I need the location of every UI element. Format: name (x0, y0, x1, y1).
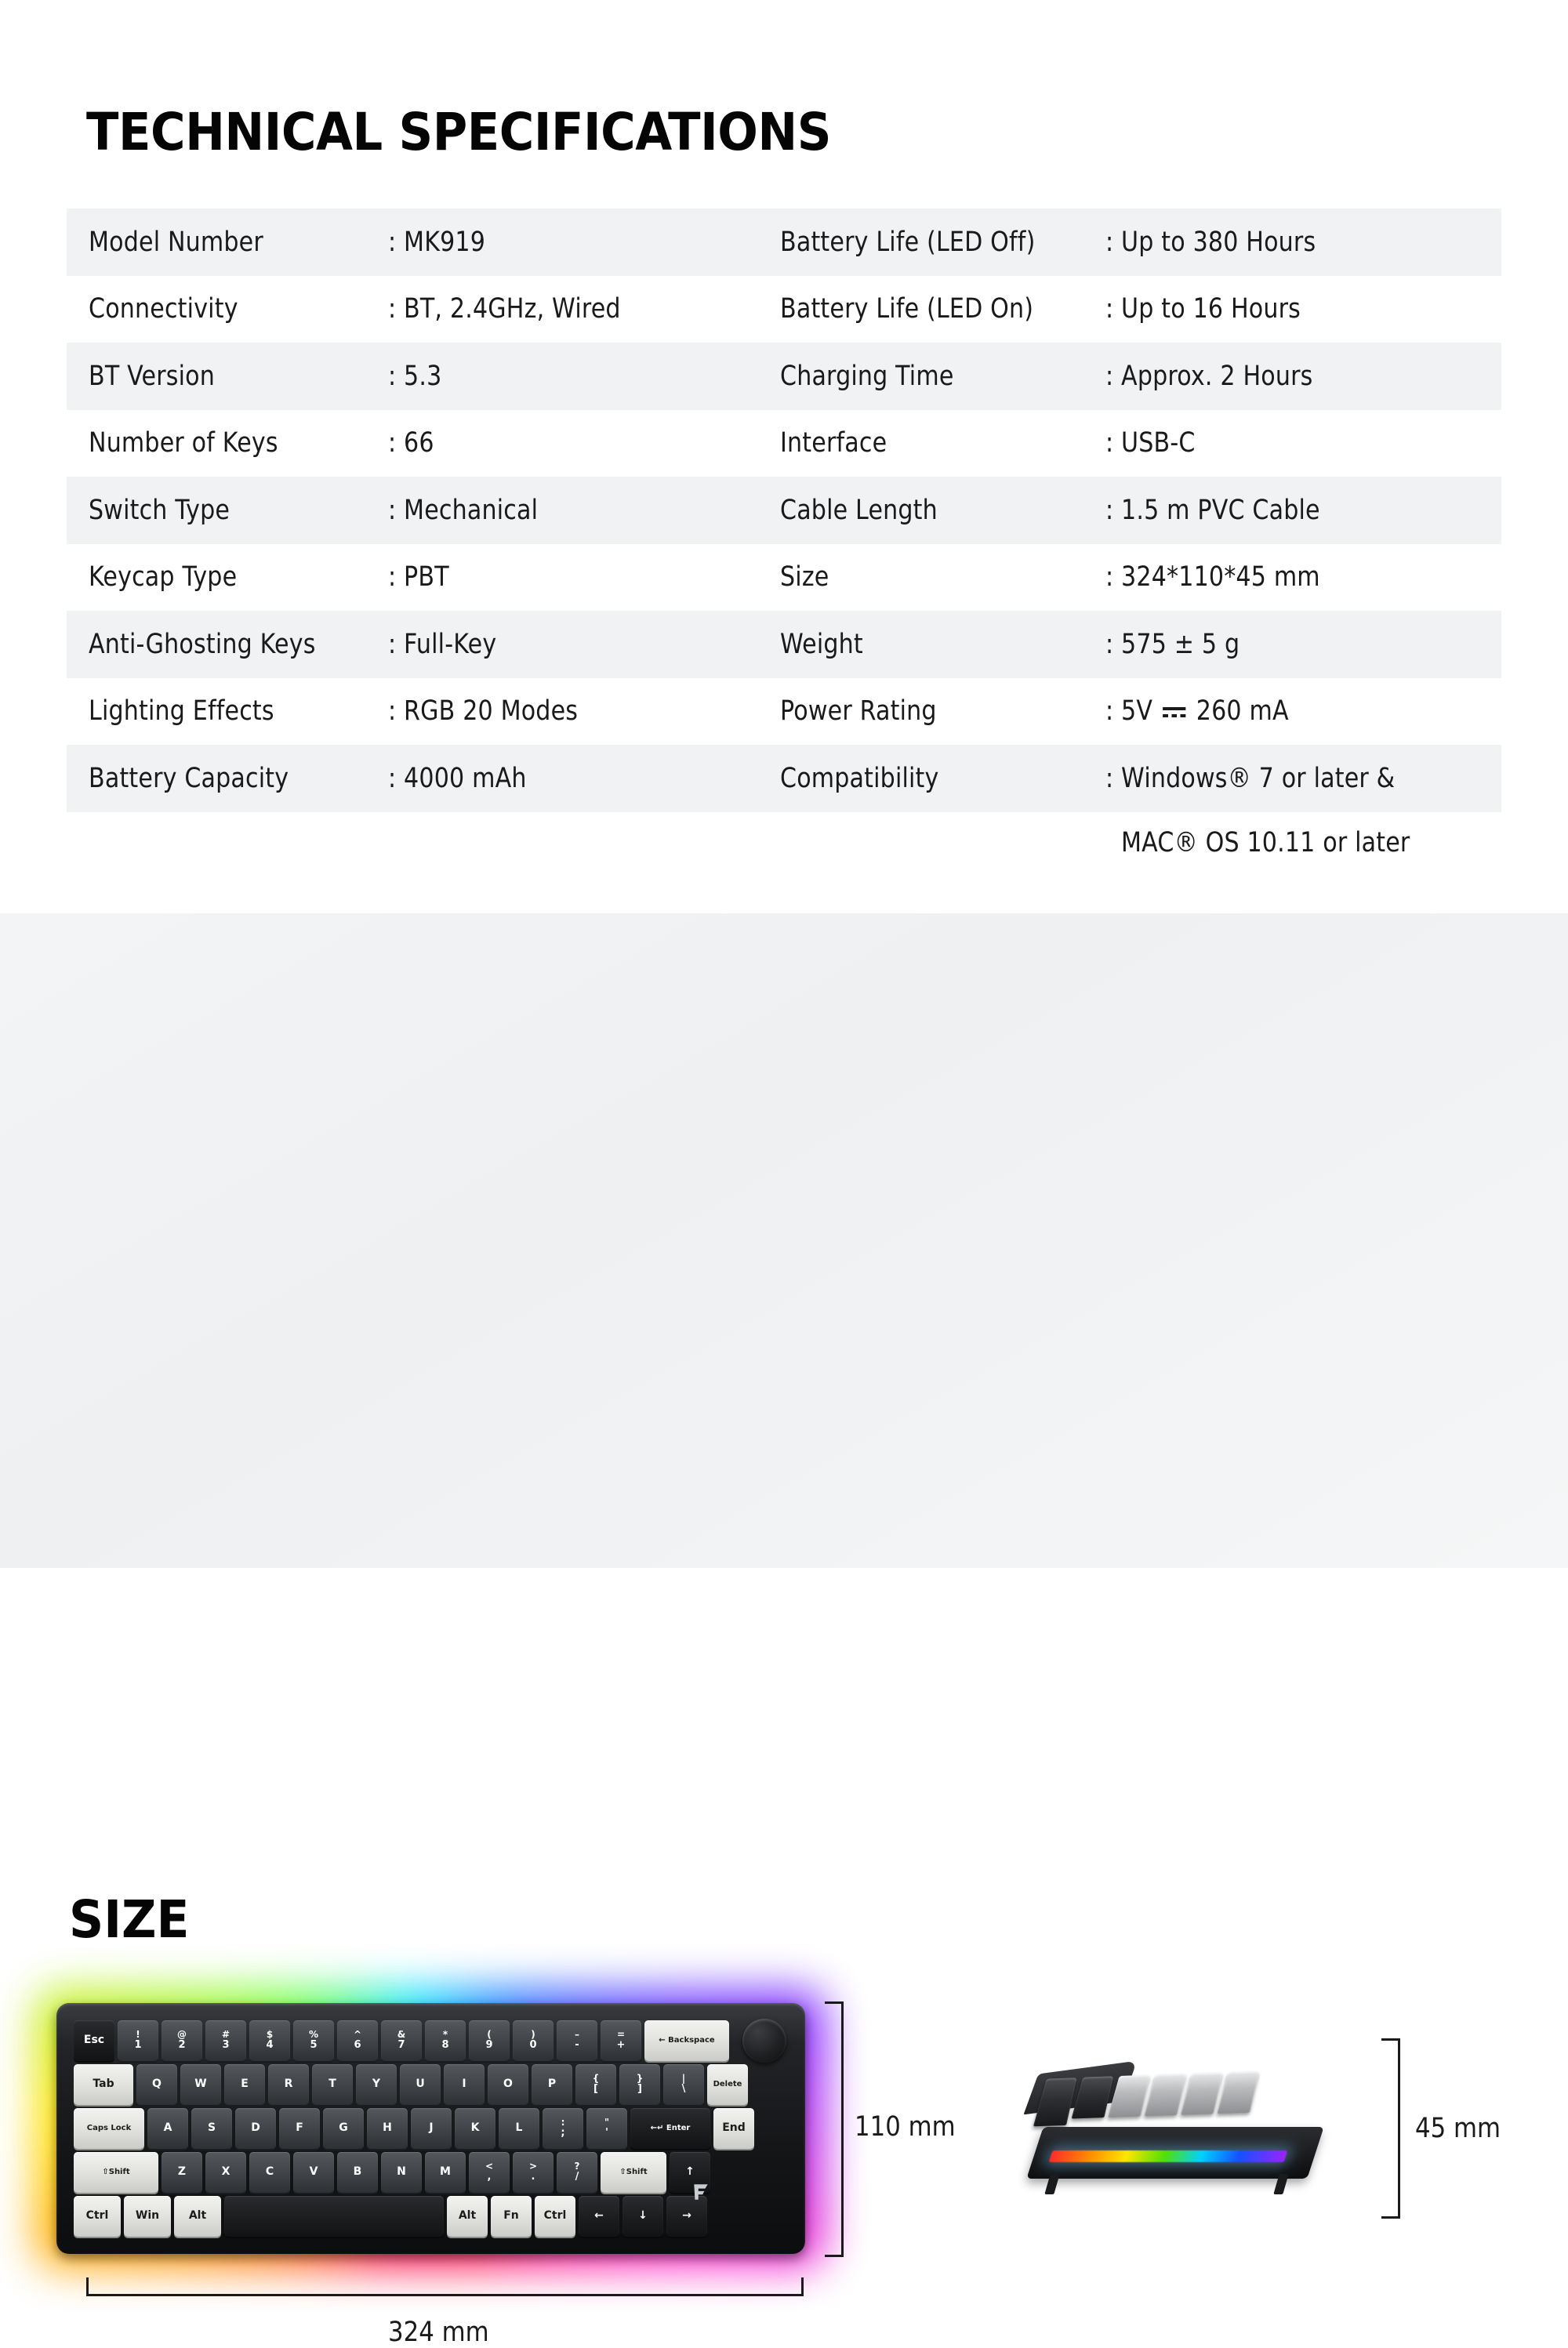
spec-value-right-text: : USB-C (1105, 427, 1196, 459)
key-a[interactable]: A (147, 2108, 188, 2149)
spec-label-right: Size (780, 544, 1105, 611)
key-legend: 3 (222, 2040, 229, 2052)
key-blank[interactable]: ?/ (557, 2152, 597, 2193)
key-ctrl[interactable]: Ctrl (535, 2196, 575, 2237)
spec-label-left-text: Switch Type (89, 495, 230, 526)
key-1[interactable]: !1 (118, 2020, 158, 2061)
key-legend: ← (594, 2210, 604, 2223)
side-view-rgb-strip (1049, 2150, 1288, 2162)
key-legend-top: | (682, 2074, 685, 2084)
spec-value-left-text: : RGB 20 Modes (388, 695, 578, 727)
key-legend: R (285, 2078, 293, 2091)
spec-value-right-text: : Up to 380 Hours (1105, 227, 1316, 258)
key-legend: 8 (441, 2040, 448, 2052)
key-legend: ⇧Shift (619, 2168, 647, 2176)
keyboard-side-view (1019, 2027, 1333, 2207)
key-t[interactable]: T (312, 2064, 353, 2105)
key-legend-top: # (222, 2030, 230, 2040)
spec-label-left: Anti-Ghosting Keys (67, 611, 388, 678)
key-legend-top: – (575, 2030, 579, 2040)
key-legend: ← Backspace (659, 2036, 714, 2045)
spec-label-left: BT Version (67, 343, 388, 410)
key-legend-top: & (397, 2030, 405, 2040)
spec-value-right-text: : 1.5 m PVC Cable (1105, 495, 1320, 526)
dc-current-icon (1163, 704, 1185, 720)
key-legend: Ctrl (544, 2210, 567, 2223)
key-legend: Z (178, 2166, 186, 2179)
spec-value-right: : 575 ± 5 g (1105, 611, 1501, 678)
key-legend-top: > (529, 2161, 537, 2172)
spec-label-left-text: Number of Keys (89, 427, 278, 459)
key-legend: U (416, 2078, 424, 2091)
spec-value-left-text: : PBT (388, 561, 449, 593)
spec-label-right-text: Power Rating (780, 695, 937, 727)
key-legend: ] (637, 2084, 642, 2096)
spec-label-right-text: Interface (780, 427, 887, 459)
spec-row: Lighting Effects: RGB 20 ModesPower Rati… (67, 678, 1501, 746)
spec-value-left-text: : Mechanical (388, 495, 538, 526)
spec-label-right: Compatibility (780, 745, 1105, 812)
depth-dimension-label: 110 mm (855, 2111, 956, 2143)
key-blank[interactable]: ↓ (622, 2196, 663, 2237)
key-win[interactable]: Win (124, 2196, 171, 2237)
key-legend: [ (593, 2084, 598, 2096)
spec-label-left: Lighting Effects (67, 678, 388, 746)
spec-label-left: Model Number (67, 209, 388, 276)
spec-value-right: : 1.5 m PVC Cable (1105, 477, 1501, 544)
key-legend: M (440, 2166, 451, 2179)
key-d[interactable]: D (235, 2108, 276, 2149)
technical-specifications-section: TECHNICAL SPECIFICATIONS Model Number: M… (0, 0, 1568, 913)
key-legend: K (471, 2122, 480, 2135)
key-legend: X (222, 2166, 230, 2179)
key-delete[interactable]: Delete (707, 2064, 748, 2105)
key-legend-top: ^ (354, 2030, 361, 2040)
key-blank[interactable]: }] (619, 2064, 660, 2105)
key-6[interactable]: ^6 (337, 2020, 378, 2061)
key-i[interactable]: I (444, 2064, 485, 2105)
key-legend: E (241, 2078, 249, 2091)
key-9[interactable]: (9 (469, 2020, 510, 2061)
key-l[interactable]: L (499, 2108, 539, 2149)
key-legend: + (617, 2040, 626, 2052)
key-j[interactable]: J (411, 2108, 452, 2149)
spec-value-left-text: : 5.3 (388, 361, 441, 392)
key-legend: Win (136, 2210, 159, 2223)
key-legend: Esc (84, 2034, 104, 2047)
key-legend-top: } (637, 2074, 644, 2084)
key-8[interactable]: *8 (425, 2020, 466, 2061)
key-r[interactable]: R (268, 2064, 309, 2105)
spec-value-right: : 5V 260 mA (1105, 678, 1501, 746)
spec-value-right: : Up to 16 Hours (1105, 276, 1501, 343)
key-legend: B (354, 2166, 362, 2179)
key-g[interactable]: G (323, 2108, 364, 2149)
spec-label-right-text: Compatibility (780, 763, 939, 794)
key-blank[interactable]: |\ (663, 2064, 704, 2105)
key-legend: Q (152, 2078, 162, 2091)
keyboard-chassis: Esc!1@2#3$4%5^6&7*8(9)0–-=+← BackspaceTa… (56, 2003, 805, 2254)
spec-value-right: : Approx. 2 Hours (1105, 343, 1501, 410)
key-legend: ; (561, 2128, 564, 2139)
key-legend: Ctrl (86, 2210, 109, 2223)
key-legend: F (296, 2122, 303, 2135)
keyboard-row: CtrlWinAltAltFnCtrl←↓→ (74, 2196, 789, 2237)
key-legend: ←↵ Enter (651, 2124, 691, 2132)
key-legend-top: : (561, 2118, 565, 2128)
key-backspace[interactable]: ← Backspace (644, 2020, 729, 2061)
key-z[interactable]: Z (162, 2152, 202, 2193)
side-view-key (1108, 2075, 1150, 2118)
key-legend: , (488, 2172, 492, 2183)
key-n[interactable]: N (381, 2152, 422, 2193)
key-legend: Fn (503, 2210, 519, 2223)
keycap-grid: Esc!1@2#3$4%5^6&7*8(9)0–-=+← BackspaceTa… (74, 2020, 789, 2241)
height-dimension-label: 45 mm (1415, 2113, 1501, 2144)
key-legend: Alt (459, 2210, 476, 2223)
spec-label-right: Weight (780, 611, 1105, 678)
key-2[interactable]: @2 (162, 2020, 202, 2061)
key-legend: 4 (266, 2040, 273, 2052)
key-legend: \ (682, 2084, 686, 2096)
key-legend: / (575, 2172, 579, 2183)
key-caps-lock[interactable]: Caps Lock (74, 2108, 144, 2149)
spec-label-right-text: Charging Time (780, 361, 954, 392)
key-legend-top: % (309, 2030, 318, 2040)
spec-label-left: Battery Capacity (67, 745, 388, 812)
spec-label-left-text: Model Number (89, 227, 263, 258)
key-s[interactable]: S (191, 2108, 232, 2149)
key-legend: D (251, 2122, 260, 2135)
key-legend: Y (372, 2078, 380, 2091)
key-legend: 9 (485, 2040, 492, 2052)
spec-row: Connectivity: BT, 2.4GHz, WiredBattery L… (67, 276, 1501, 343)
key-blank[interactable]: =+ (601, 2020, 641, 2061)
key-end[interactable]: End (713, 2108, 754, 2149)
spec-value-left: : PBT (388, 544, 780, 611)
spec-label-right-text: Cable Length (780, 495, 938, 526)
spec-value-right-text: : 324*110*45 mm (1105, 561, 1320, 593)
depth-dimension-bracket (825, 2001, 844, 2257)
key-m[interactable]: M (425, 2152, 466, 2193)
spec-value-left: : 66 (388, 410, 780, 477)
side-view-key (1181, 2072, 1223, 2114)
key-v[interactable]: V (293, 2152, 334, 2193)
spec-label-left-text: Connectivity (89, 293, 238, 325)
spec-value-left: : Full-Key (388, 611, 780, 678)
keyboard-row: TabQWERTYUIOP{[}]|\Delete (74, 2064, 789, 2105)
key-legend: → (682, 2210, 691, 2223)
key-legend: ⇧Shift (102, 2168, 129, 2176)
spec-value-left-text: : Full-Key (388, 629, 496, 660)
key-legend: 1 (134, 2040, 141, 2052)
spec-label-left-text: Battery Capacity (89, 763, 289, 794)
key-legend: Alt (189, 2210, 206, 2223)
key-blank[interactable]: :; (543, 2108, 583, 2149)
key-legend-top: $ (267, 2030, 273, 2040)
key-blank[interactable]: "' (586, 2108, 627, 2149)
key-legend: ↑ (685, 2166, 695, 2179)
spec-label-right: Battery Life (LED Off) (780, 209, 1105, 276)
spec-row: Anti-Ghosting Keys: Full-KeyWeight: 575 … (67, 611, 1501, 678)
height-dimension-bracket (1381, 2038, 1400, 2219)
spec-row: Number of Keys: 66Interface: USB-C (67, 410, 1501, 477)
key-enter[interactable]: ←↵ Enter (630, 2108, 710, 2149)
key-h[interactable]: H (367, 2108, 408, 2149)
keyboard-row: Esc!1@2#3$4%5^6&7*8(9)0–-=+← Backspace (74, 2020, 789, 2061)
volume-knob-icon (742, 2019, 786, 2063)
key-y[interactable]: Y (356, 2064, 397, 2105)
key-legend: 5 (310, 2040, 317, 2052)
key-c[interactable]: C (249, 2152, 290, 2193)
key-alt[interactable]: Alt (447, 2196, 488, 2237)
spec-row: BT Version: 5.3Charging Time: Approx. 2 … (67, 343, 1501, 410)
specifications-table: Model Number: MK919Battery Life (LED Off… (67, 209, 1501, 812)
key-blank[interactable]: ← (579, 2196, 619, 2237)
spec-value-right-text: : Windows® 7 or later & (1105, 763, 1395, 794)
keyboard-row: Caps LockASDFGHJKL:;"'←↵ EnterEnd (74, 2108, 789, 2149)
key-legend: - (575, 2040, 579, 2052)
key-legend: End (722, 2122, 746, 2135)
key-5[interactable]: %5 (293, 2020, 334, 2061)
key-legend: 7 (397, 2040, 405, 2052)
width-dimension-label: 324 mm (388, 2317, 489, 2348)
key-u[interactable]: U (400, 2064, 441, 2105)
key-legend: 0 (529, 2040, 536, 2052)
key-legend: V (310, 2166, 318, 2179)
spec-value-left-text: : 4000 mAh (388, 763, 527, 794)
spec-label-left-text: Anti-Ghosting Keys (89, 629, 316, 660)
keyboard-row: ⇧ShiftZXCVBNM<,>.?/⇧Shift↑ (74, 2152, 789, 2193)
key-legend: L (516, 2122, 523, 2135)
key-legend-top: < (485, 2161, 493, 2172)
key-legend: Delete (713, 2080, 742, 2089)
spec-value-right-text: : 575 ± 5 g (1105, 629, 1240, 660)
key-legend: ↓ (638, 2210, 648, 2223)
key-legend-top: " (604, 2118, 609, 2128)
spec-row: Keycap Type: PBTSize: 324*110*45 mm (67, 544, 1501, 611)
spec-label-left-text: Lighting Effects (89, 695, 274, 727)
compatibility-mac-text: MAC® OS 10.11 or later (1121, 827, 1410, 858)
spec-value-right: : Windows® 7 or later & (1105, 745, 1501, 812)
compatibility-second-line: MAC® OS 10.11 or later (1121, 827, 1457, 858)
spec-label-left: Number of Keys (67, 410, 388, 477)
page-title: TECHNICAL SPECIFICATIONS (86, 102, 831, 162)
key-0[interactable]: )0 (513, 2020, 554, 2061)
key-fn[interactable]: Fn (491, 2196, 532, 2237)
key-shift[interactable]: ⇧Shift (74, 2152, 158, 2193)
spec-value-left: : 5.3 (388, 343, 780, 410)
spec-value-right-text: : 5V 260 mA (1105, 695, 1289, 727)
key-blank[interactable]: <, (469, 2152, 510, 2193)
key-k[interactable]: K (455, 2108, 495, 2149)
spec-label-right-text: Battery Life (LED On) (780, 293, 1033, 325)
key-blank[interactable] (224, 2196, 444, 2237)
key-legend: Caps Lock (87, 2124, 132, 2132)
spec-row: Switch Type: MechanicalCable Length: 1.5… (67, 477, 1501, 544)
side-view-key (1144, 2074, 1186, 2116)
key-f[interactable]: F (279, 2108, 320, 2149)
spec-value-right-text: : Up to 16 Hours (1105, 293, 1301, 325)
key-legend: S (208, 2122, 216, 2135)
spec-label-left: Keycap Type (67, 544, 388, 611)
spec-label-right: Battery Life (LED On) (780, 276, 1105, 343)
key-legend: I (462, 2078, 466, 2091)
size-title: SIZE (69, 1889, 189, 1950)
spec-value-right: : USB-C (1105, 410, 1501, 477)
key-legend: C (266, 2166, 274, 2179)
size-section: SIZE Esc!1@2#3$4%5^6&7*8(9)0–-=+← Backsp… (0, 913, 1568, 1568)
key-legend: P (548, 2078, 556, 2091)
key-legend: W (194, 2078, 206, 2091)
key-legend-top: ( (487, 2030, 491, 2040)
spec-value-right-text: : Approx. 2 Hours (1105, 361, 1313, 392)
key-7[interactable]: &7 (381, 2020, 422, 2061)
key-shift[interactable]: ⇧Shift (601, 2152, 666, 2193)
key-legend-top: ) (531, 2030, 535, 2040)
key-w[interactable]: W (180, 2064, 221, 2105)
key-legend: G (339, 2122, 348, 2135)
spec-value-left: : RGB 20 Modes (388, 678, 780, 746)
key-legend-top: ! (136, 2030, 140, 2040)
key-b[interactable]: B (337, 2152, 378, 2193)
key-legend: A (164, 2122, 172, 2135)
key-ctrl[interactable]: Ctrl (74, 2196, 121, 2237)
spec-value-left: : MK919 (388, 209, 780, 276)
spec-value-right: : Up to 380 Hours (1105, 209, 1501, 276)
key-legend-top: @ (177, 2030, 187, 2040)
spec-value-right: : 324*110*45 mm (1105, 544, 1501, 611)
spec-label-left: Connectivity (67, 276, 388, 343)
spec-value-left-text: : MK919 (388, 227, 485, 258)
key-legend-top: * (443, 2030, 448, 2040)
key-blank[interactable]: –- (557, 2020, 597, 2061)
key-legend: . (532, 2172, 535, 2183)
spec-label-left-text: BT Version (89, 361, 215, 392)
spec-label-left: Switch Type (67, 477, 388, 544)
key-legend-top: = (617, 2030, 625, 2040)
fantech-logo-icon (691, 2182, 711, 2202)
spec-value-left-text: : BT, 2.4GHz, Wired (388, 293, 621, 325)
side-view-key (1072, 2076, 1114, 2118)
key-tab[interactable]: Tab (74, 2064, 133, 2105)
key-legend: 6 (354, 2040, 361, 2052)
spec-label-left-text: Keycap Type (89, 561, 237, 593)
key-e[interactable]: E (224, 2064, 265, 2105)
spec-label-right: Cable Length (780, 477, 1105, 544)
spec-value-left: : 4000 mAh (388, 745, 780, 812)
side-view-keycaps (1034, 2070, 1260, 2125)
side-view-key (1217, 2071, 1259, 2114)
spec-label-right: Charging Time (780, 343, 1105, 410)
spec-label-right-text: Weight (780, 629, 863, 660)
key-legend: Tab (93, 2078, 114, 2091)
key-esc[interactable]: Esc (74, 2020, 114, 2061)
key-legend-top: { (593, 2074, 600, 2084)
key-legend: T (328, 2078, 336, 2091)
key-o[interactable]: O (488, 2064, 528, 2105)
spec-value-left: : BT, 2.4GHz, Wired (388, 276, 780, 343)
key-p[interactable]: P (532, 2064, 572, 2105)
spec-label-right-text: Size (780, 561, 829, 593)
key-3[interactable]: #3 (205, 2020, 246, 2061)
key-legend: ' (605, 2128, 608, 2139)
key-legend-top: ? (575, 2161, 580, 2172)
spec-row: Model Number: MK919Battery Life (LED Off… (67, 209, 1501, 276)
key-q[interactable]: Q (136, 2064, 177, 2105)
key-legend: J (429, 2122, 433, 2135)
keyboard-top-view: Esc!1@2#3$4%5^6&7*8(9)0–-=+← BackspaceTa… (56, 2003, 809, 2254)
key-blank[interactable]: >. (513, 2152, 554, 2193)
key-legend: 2 (178, 2040, 185, 2052)
key-x[interactable]: X (205, 2152, 246, 2193)
key-blank[interactable]: {[ (575, 2064, 616, 2105)
key-legend: O (503, 2078, 513, 2091)
spec-label-right-text: Battery Life (LED Off) (780, 227, 1035, 258)
width-dimension-bracket (86, 2277, 804, 2296)
spec-row: Battery Capacity: 4000 mAhCompatibility:… (67, 745, 1501, 812)
key-legend: N (397, 2166, 406, 2179)
spec-label-right: Power Rating (780, 678, 1105, 746)
spec-value-left: : Mechanical (388, 477, 780, 544)
spec-value-left-text: : 66 (388, 427, 434, 459)
key-4[interactable]: $4 (249, 2020, 290, 2061)
key-legend: H (383, 2122, 392, 2135)
spec-label-right: Interface (780, 410, 1105, 477)
key-alt[interactable]: Alt (174, 2196, 221, 2237)
